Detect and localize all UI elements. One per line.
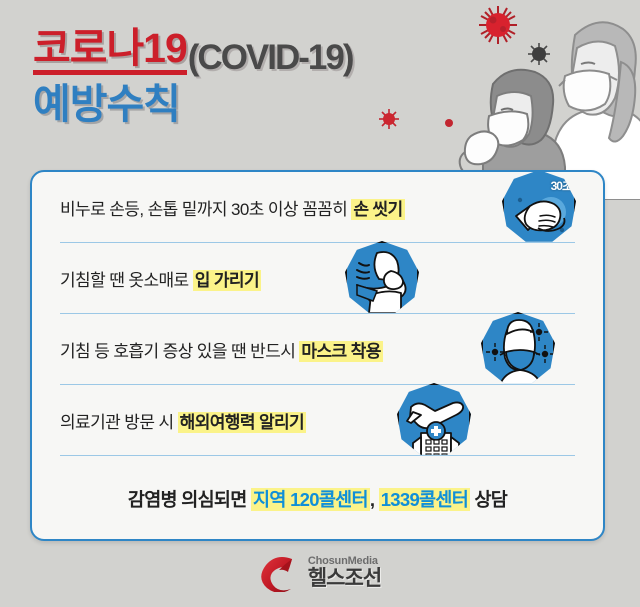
callout-lead: 감염병 의심되면	[128, 489, 251, 510]
callout-separator: ,	[370, 489, 379, 510]
rule-text-lead: 기침 등 호흡기 증상 있을 땐 반드시	[60, 342, 299, 361]
rule-text-highlight: 마스크 착용	[299, 341, 382, 362]
rule-text: 기침 등 호흡기 증상 있을 땐 반드시 마스크 착용	[60, 337, 383, 362]
call-center-callout: 감염병 의심되면 지역 120콜센터, 1339콜센터 상담	[60, 456, 575, 541]
virus-particle-small-icon	[378, 108, 400, 130]
poster-root: 코로나19(COVID-19) 예방수칙 비누로 손등, 손톱 밑까지 30초 …	[0, 0, 640, 607]
hospital-airplane-icon	[397, 383, 471, 457]
rule-row-hand-washing[interactable]: 비누로 손등, 손톱 밑까지 30초 이상 꼼꼼히 손 씻기 30초	[60, 172, 575, 243]
prevention-rules-card: 비누로 손등, 손톱 밑까지 30초 이상 꼼꼼히 손 씻기 30초	[30, 170, 605, 541]
rule-text: 의료기관 방문 시 해외여행력 알리기	[60, 408, 306, 433]
rule-text-highlight: 입 가리기	[193, 270, 261, 291]
brand-name-korean: 헬스조선	[308, 568, 381, 589]
virus-particle-large-icon	[478, 5, 518, 45]
title-english: (COVID-19)	[188, 40, 353, 75]
virus-particle-tiny-icon	[443, 117, 455, 129]
rules-list: 비누로 손등, 손톱 밑까지 30초 이상 꼼꼼히 손 씻기 30초	[32, 172, 603, 541]
rule-text: 기침할 땐 옷소매로 입 가리기	[60, 266, 261, 291]
chosun-media-logo-icon	[259, 552, 299, 592]
callout-tail: 상담	[470, 489, 507, 510]
hand-washing-icon: 30초	[502, 170, 576, 244]
footer-branding: ChosunMedia 헬스조선	[0, 552, 640, 592]
virus-particle-dark-icon	[527, 42, 551, 66]
cough-into-sleeve-icon	[345, 241, 419, 315]
title-line-2: 예방수칙	[33, 84, 353, 125]
rule-row-cough-sleeve[interactable]: 기침할 땐 옷소매로 입 가리기	[60, 243, 575, 314]
callout-highlight-local: 지역 120콜센터	[251, 488, 370, 511]
rule-text: 비누로 손등, 손톱 밑까지 30초 이상 꼼꼼히 손 씻기	[60, 195, 405, 220]
title-line-1: 코로나19(COVID-19)	[33, 28, 353, 75]
rule-text-highlight: 해외여행력 알리기	[178, 412, 306, 433]
brand-name-english: ChosunMedia	[308, 556, 381, 567]
rule-text-lead: 비누로 손등, 손톱 밑까지 30초 이상 꼼꼼히	[60, 200, 351, 219]
title-korean: 코로나19	[33, 28, 187, 75]
callout-highlight-1339: 1339콜센터	[379, 488, 470, 511]
face-mask-icon	[481, 312, 555, 386]
brand-text: ChosunMedia 헬스조선	[308, 556, 381, 589]
rule-text-highlight: 손 씻기	[351, 199, 404, 220]
poster-title: 코로나19(COVID-19) 예방수칙	[33, 28, 353, 125]
title-subtitle: 예방수칙	[33, 84, 180, 125]
rule-row-travel-history[interactable]: 의료기관 방문 시 해외여행력 알리기	[60, 385, 575, 456]
rule-text-lead: 기침할 땐 옷소매로	[60, 271, 193, 290]
icon-badge-30sec: 30초	[551, 177, 572, 194]
callout-text: 감염병 의심되면 지역 120콜센터, 1339콜센터 상담	[128, 486, 507, 512]
rule-text-lead: 의료기관 방문 시	[60, 413, 178, 432]
rule-row-wear-mask[interactable]: 기침 등 호흡기 증상 있을 땐 반드시 마스크 착용	[60, 314, 575, 385]
